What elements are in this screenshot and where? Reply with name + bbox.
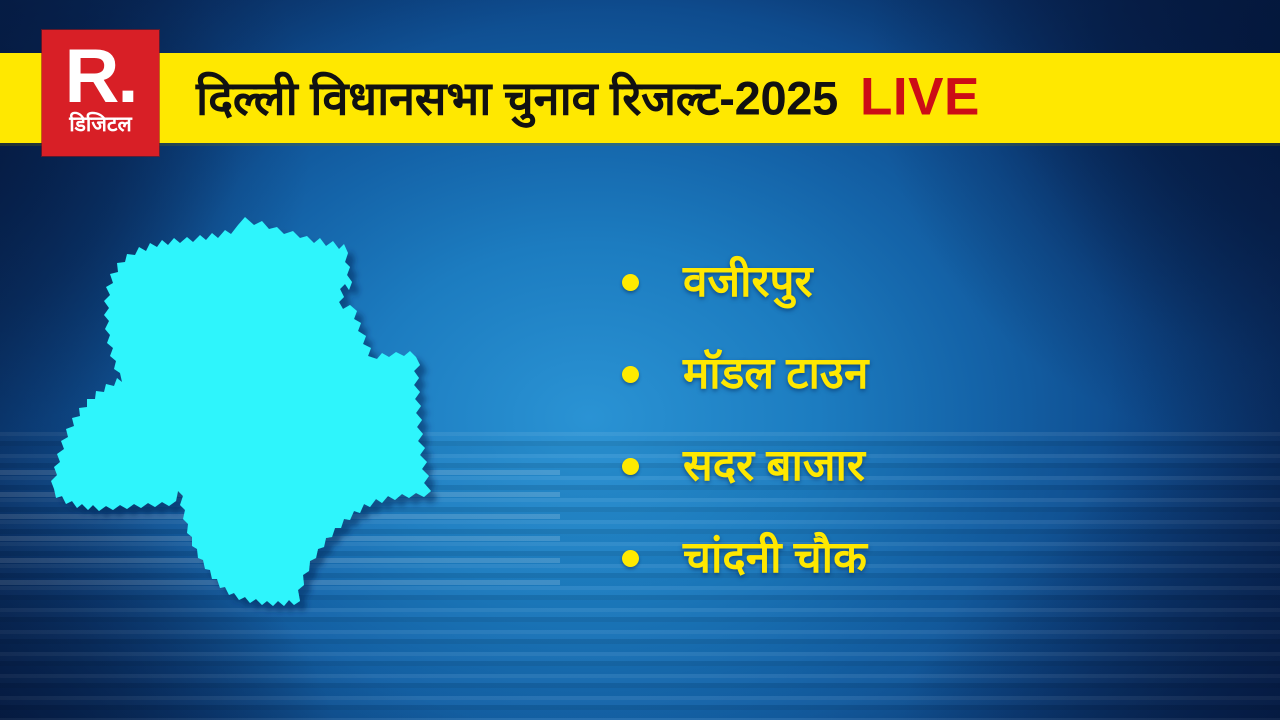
list-item[interactable]: वजीरपुर — [622, 236, 868, 328]
delhi-map-svg — [48, 205, 478, 655]
page-title: दिल्ली विधानसभा चुनाव रिजल्ट-2025 — [196, 74, 838, 121]
broadcast-graphic: दिल्ली विधानसभा चुनाव रिजल्ट-2025 LIVE R… — [0, 0, 1280, 720]
republic-logo[interactable]: R. डिजिटल — [42, 30, 159, 156]
logo-letter: R. — [65, 41, 137, 113]
list-item[interactable]: मॉडल टाउन — [622, 328, 868, 420]
constituency-label: वजीरपुर — [683, 260, 813, 304]
bullet-icon — [622, 366, 639, 383]
bullet-icon — [622, 274, 639, 291]
bullet-icon — [622, 458, 639, 475]
delhi-map — [48, 205, 478, 655]
constituency-label: सदर बाजार — [683, 444, 865, 488]
delhi-map-path — [51, 217, 431, 606]
bullet-icon — [622, 550, 639, 567]
constituency-label: मॉडल टाउन — [683, 352, 868, 396]
list-item[interactable]: सदर बाजार — [622, 420, 868, 512]
headline: दिल्ली विधानसभा चुनाव रिजल्ट-2025 LIVE — [196, 70, 980, 123]
header-band: दिल्ली विधानसभा चुनाव रिजल्ट-2025 LIVE — [0, 53, 1280, 143]
logo-subtitle: डिजिटल — [69, 114, 132, 135]
constituency-label: चांदनी चौक — [683, 536, 867, 580]
list-item[interactable]: चांदनी चौक — [622, 512, 868, 604]
live-badge: LIVE — [860, 70, 980, 123]
constituency-list: वजीरपुर मॉडल टाउन सदर बाजार चांदनी चौक — [622, 236, 868, 604]
